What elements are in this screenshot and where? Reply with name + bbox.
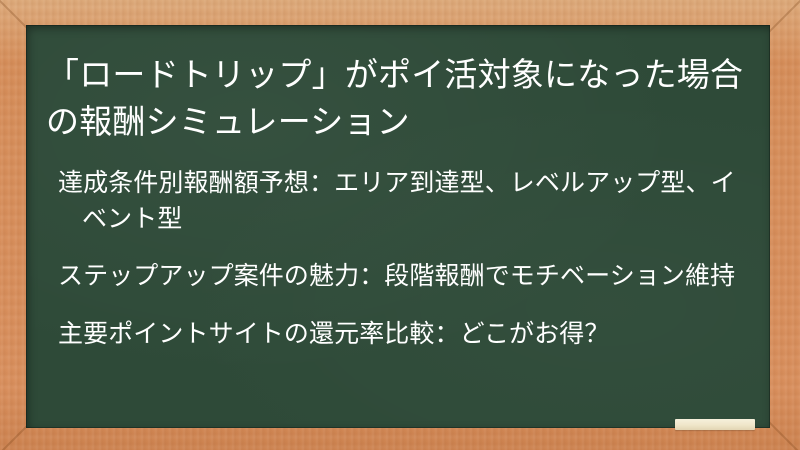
chalk-stick-icon xyxy=(675,419,755,430)
bullet-list: 達成条件別報酬額予想：エリア到達型、レベルアップ型、イベント型 ステップアップ案… xyxy=(58,165,758,351)
list-item: ステップアップ案件の魅力：段階報酬でモチベーション維持 xyxy=(58,258,758,294)
slide-title: 「ロードトリップ」がポイ活対象になった場合の報酬シミュレーション xyxy=(46,52,752,146)
chalkboard-slide: 「ロードトリップ」がポイ活対象になった場合の報酬シミュレーション 達成条件別報酬… xyxy=(0,0,800,450)
list-item: 主要ポイントサイトの還元率比較：どこがお得？ xyxy=(58,316,758,352)
chalkboard-surface: 「ロードトリップ」がポイ活対象になった場合の報酬シミュレーション 達成条件別報酬… xyxy=(26,25,770,428)
list-item: 達成条件別報酬額予想：エリア到達型、レベルアップ型、イベント型 xyxy=(58,165,758,236)
